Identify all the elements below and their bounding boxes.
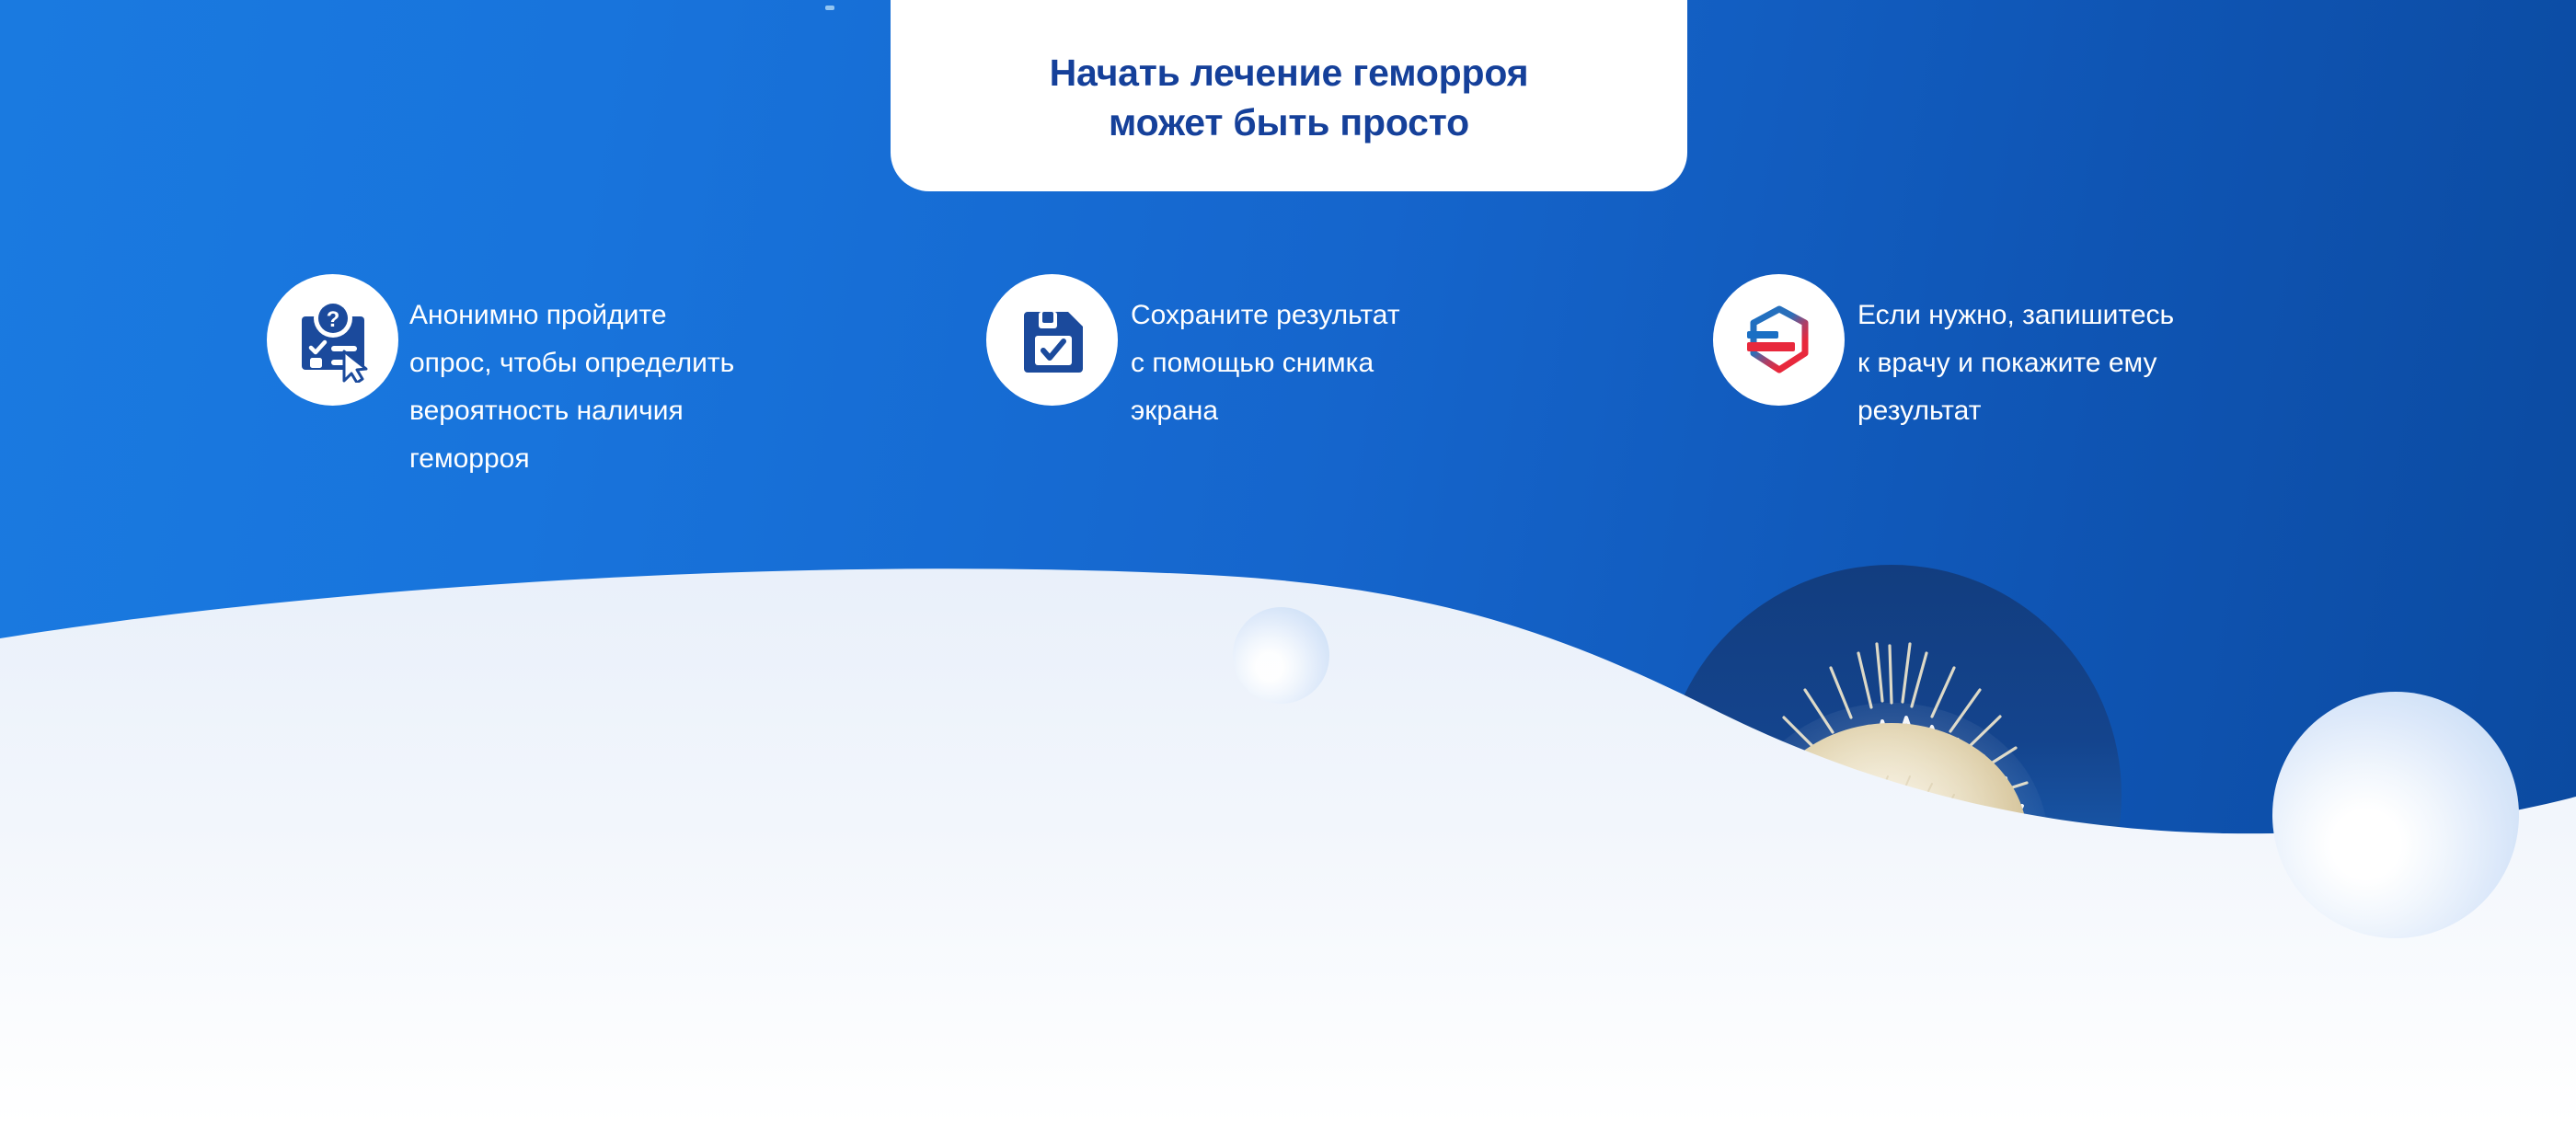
clipboard-question-cursor-icon: ? [267,274,398,406]
promo-banner: Начать лечение геморроя может быть прост… [0,0,2576,1125]
feature-item-survey: ? Анонимно пройдите опрос, чтобы определ… [267,272,925,483]
feature-list: ? Анонимно пройдите опрос, чтобы определ… [0,272,2576,475]
feature-item-save: Сохраните результат с помощью снимка экр… [986,272,1563,435]
decorative-sphere-small-overlay [1233,607,1329,704]
clinic-hexagon-logo-icon [1713,274,1845,406]
feature-label-doctor: Если нужно, запишитесь к врачу и покажит… [1857,272,2317,435]
feature-item-doctor: Если нужно, запишитесь к врачу и покажит… [1713,272,2317,435]
headline-card: Начать лечение геморроя может быть прост… [891,0,1687,191]
artifact-speck [825,6,834,10]
svg-text:?: ? [326,307,339,332]
decorative-sphere-large [2272,692,2519,938]
feature-label-save: Сохраните результат с помощью снимка экр… [1131,272,1563,435]
page-title: Начать лечение геморроя может быть прост… [1050,48,1529,147]
feature-label-survey: Анонимно пройдите опрос, чтобы определит… [409,272,925,483]
floppy-disk-check-icon [986,274,1118,406]
